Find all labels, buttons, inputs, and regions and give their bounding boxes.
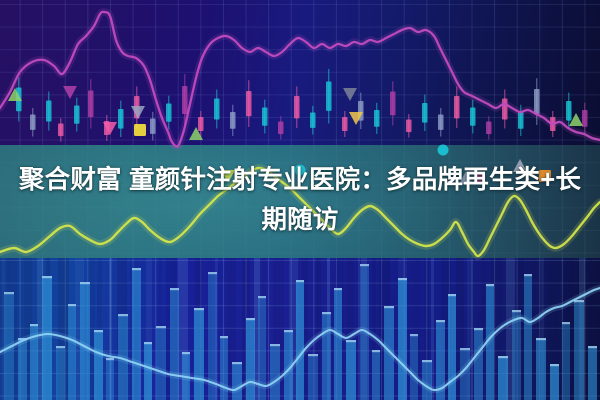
chart-marker-triangle-down — [349, 112, 363, 125]
chart-marker-triangle-up — [189, 127, 203, 140]
chart-marker-square — [134, 124, 146, 136]
chart-marker-triangle-down — [63, 86, 77, 99]
chart-marker-triangle-down — [343, 88, 357, 101]
chart-marker-triangle-up — [8, 88, 22, 101]
stock-chart-banner: 聚合财富 童颜针注射专业医院：多品牌再生类+长期随访 — [0, 0, 600, 400]
page-title: 聚合财富 童颜针注射专业医院：多品牌再生类+长期随访 — [0, 160, 600, 240]
chart-marker-triangle-up — [569, 113, 583, 126]
chart-marker-triangle-down — [131, 106, 145, 119]
chart-marker-triangle-down — [103, 122, 117, 135]
chart-marker-circle — [438, 145, 449, 156]
